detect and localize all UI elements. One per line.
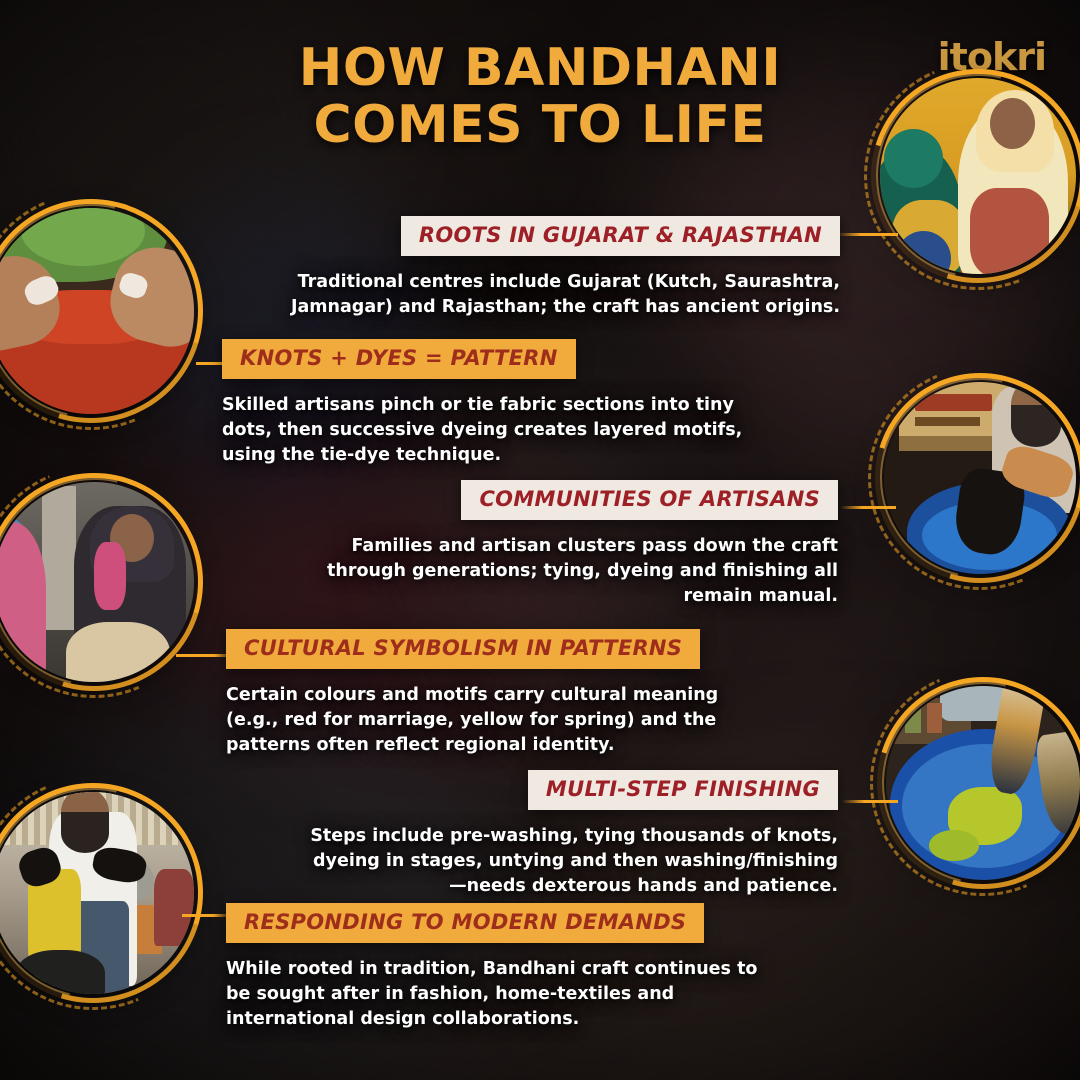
photo-scene [880,78,1076,274]
section-heading-communities[interactable]: COMMUNITIES OF ARTISANS [461,480,838,520]
infographic-poster: itokri HOW BANDHANI COMES TO LIFE [0,0,1080,1080]
scene-shape [16,950,105,994]
section-finishing: MULTI-STEP FINISHING Steps include pre-w… [300,770,838,899]
section-body-finishing: Steps include pre-washing, tying thousan… [300,824,838,899]
scene-shape [1011,405,1061,447]
scene-shape [154,869,194,946]
connector-finishing [842,800,898,803]
photo-disc [886,686,1080,880]
connector-roots [836,233,898,236]
photo-scene [0,482,194,682]
section-knots: KNOTS + DYES = PATTERN Skilled artisans … [222,339,762,468]
scene-shape [915,394,992,411]
photo-women-outdoor-tying [0,482,194,682]
section-body-modern: While rooted in tradition, Bandhani craf… [226,957,774,1032]
photo-scene [0,792,194,994]
photo-scene [0,208,194,414]
photo-dyer-blue-vat-gloves [884,382,1076,574]
photo-indigo-vat-yellow-cloth [886,686,1080,880]
section-heading-finishing[interactable]: MULTI-STEP FINISHING [528,770,838,810]
section-body-symbolism: Certain colours and motifs carry cultura… [226,683,766,758]
scene-shape [905,705,921,732]
scene-shape [970,188,1048,274]
section-heading-roots[interactable]: ROOTS IN GUJARAT & RAJASTHAN [401,216,840,256]
photo-disc [0,482,194,682]
scene-shape [66,622,170,682]
section-roots: ROOTS IN GUJARAT & RAJASTHAN Traditional… [280,216,840,320]
scene-shape [940,686,1006,721]
scene-shape [990,98,1035,149]
scene-shape [61,812,109,852]
scene-shape [42,486,76,630]
photo-disc [0,208,194,414]
scene-shape [927,703,943,732]
section-body-communities: Families and artisan clusters pass down … [290,534,838,609]
photo-disc [880,78,1076,274]
photo-women-tying-yellow-room [880,78,1076,274]
section-modern: RESPONDING TO MODERN DEMANDS While roote… [226,903,774,1032]
photo-disc [884,382,1076,574]
section-body-knots: Skilled artisans pinch or tie fabric sec… [222,393,762,468]
section-body-roots: Traditional centres include Gujarat (Kut… [280,270,840,320]
section-heading-modern[interactable]: RESPONDING TO MODERN DEMANDS [226,903,704,943]
scene-shape [884,129,943,188]
photo-dyer-lifting-yellow [0,792,194,994]
section-communities: COMMUNITIES OF ARTISANS Families and art… [290,480,838,609]
scene-shape [94,542,126,610]
connector-communities [840,506,896,509]
scene-shape [929,830,979,861]
photo-scene [884,382,1076,574]
section-symbolism: CULTURAL SYMBOLISM IN PATTERNS Certain c… [226,629,766,758]
photo-hands-tying-red-fabric [0,208,194,414]
section-heading-symbolism[interactable]: CULTURAL SYMBOLISM IN PATTERNS [226,629,700,669]
section-heading-knots[interactable]: KNOTS + DYES = PATTERN [222,339,576,379]
photo-scene [886,686,1080,880]
scene-shape [915,417,980,427]
photo-disc [0,792,194,994]
